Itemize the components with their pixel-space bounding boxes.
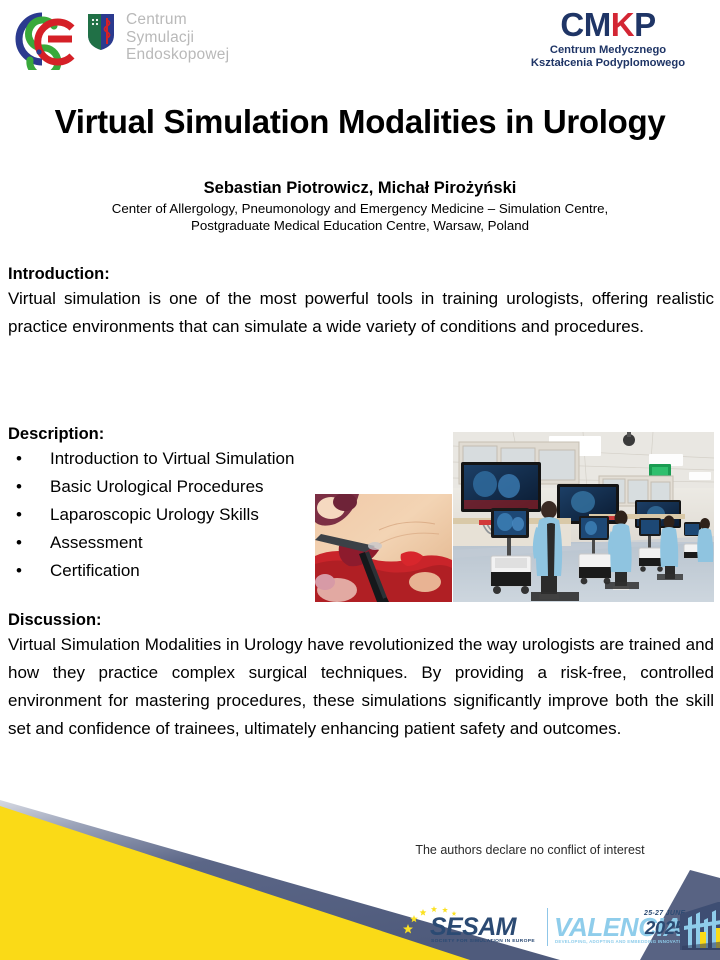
list-item-label: Basic Urological Procedures [50,477,264,496]
list-item-label: Introduction to Virtual Simulation [50,449,294,468]
laparoscopic-surgery-photo [315,494,452,602]
author-affiliation: Center of Allergology, Pneumonology and … [40,200,680,234]
author-names: Sebastian Piotrowicz, Michał Pirożyński [40,178,680,198]
cmkp-logo: CMKP Centrum Medycznego Kształcenia Pody… [508,8,708,70]
cmkp-p: P [634,6,656,43]
cmkp-sub-line2: Kształcenia Podyplomowego [508,57,708,70]
valencia-skyline-icon [678,902,720,950]
conflict-of-interest-statement: The authors declare no conflict of inter… [360,843,700,857]
discussion-body: Virtual Simulation Modalities in Urology… [8,631,714,743]
bullet-icon: • [16,473,22,501]
introduction-section: Introduction: Virtual simulation is one … [8,264,714,341]
discussion-heading: Discussion: [8,610,714,631]
sesam-wordmark: SESAM [430,914,516,940]
cmkp-k: K [611,6,634,43]
list-item-label: Assessment [50,533,143,552]
cse-logo: Centrum Symulacji Endoskopowej [8,6,208,78]
discussion-section: Discussion: Virtual Simulation Modalitie… [8,610,714,743]
surgery-photo-graphic [315,494,452,602]
bullet-icon: • [16,501,22,529]
list-item-label: Certification [50,561,140,580]
cse-word-line2: Symulacji [126,29,229,47]
cse-logo-wordmark: Centrum Symulacji Endoskopowej [126,11,229,64]
lab-photo-graphic [453,432,714,602]
cmkp-cm: CM [560,6,610,43]
bullet-icon: • [16,445,22,473]
poster-page: Centrum Symulacji Endoskopowej CMKP Cent… [0,0,720,960]
cmkp-wordmark: CMKP [508,8,708,42]
introduction-heading: Introduction: [8,264,714,285]
list-item-label: Laparoscopic Urology Skills [50,505,259,524]
affiliation-line2: Postgraduate Medical Education Centre, W… [40,217,680,234]
logo-divider [547,908,548,946]
sesam-tagline: SOCIETY FOR SIMULATION IN EUROPE [431,939,535,944]
authors-block: Sebastian Piotrowicz, Michał Pirożyński … [40,178,680,234]
cse-word-line3: Endoskopowej [126,46,229,64]
cse-monogram-icon [8,8,86,70]
simulation-training-room-photo [453,432,714,602]
cmkp-sub-line1: Centrum Medycznego [508,44,708,57]
poster-title: Virtual Simulation Modalities in Urology [0,103,720,141]
cmkp-subtitle: Centrum Medycznego Kształcenia Podyplomo… [508,44,708,70]
sesam-valencia-logo: SESAM SOCIETY FOR SIMULATION IN EUROPE V… [400,900,712,956]
cse-word-line1: Centrum [126,11,229,29]
bullet-icon: • [16,557,22,585]
medical-shield-icon [86,12,116,52]
bullet-icon: • [16,529,22,557]
poster-header: Centrum Symulacji Endoskopowej CMKP Cent… [0,0,720,88]
affiliation-line1: Center of Allergology, Pneumonology and … [40,200,680,217]
introduction-body: Virtual simulation is one of the most po… [8,285,714,341]
